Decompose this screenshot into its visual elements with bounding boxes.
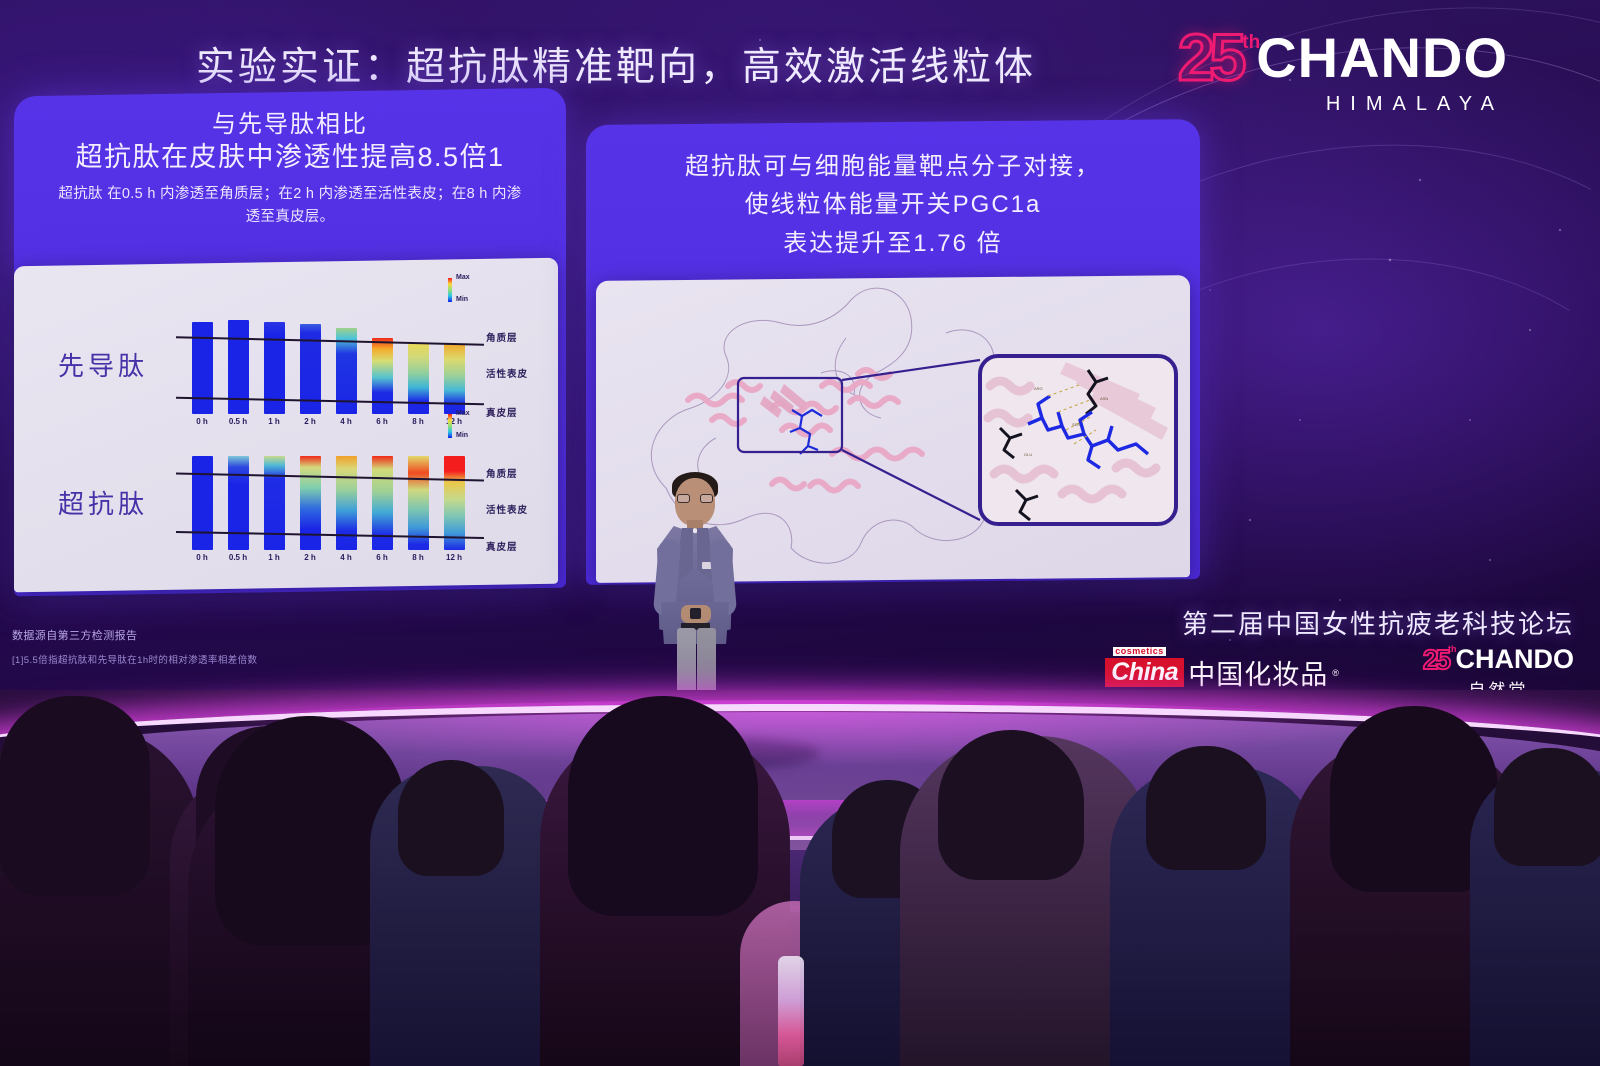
speaker-glasses: [677, 494, 713, 503]
heatmap-bar: [192, 456, 213, 550]
audience-hair: [0, 696, 150, 896]
x-tick: 12 h: [446, 553, 462, 562]
heatmap-bar: [228, 456, 249, 550]
x-tick: 0 h: [196, 417, 208, 426]
presentation-photo: 实验实证：超抗肽精准靶向，高效激活线粒体 25 th CHANDO HIMALA…: [0, 0, 1600, 1066]
legend-max-label: Max: [456, 410, 470, 417]
right-heading-line1: 超抗肽可与细胞能量靶点分子对接，: [616, 148, 1170, 186]
x-tick: 8 h: [412, 553, 424, 562]
layer-label-viable-epidermis: 活性表皮: [486, 502, 528, 516]
logo-china-cn-text: 中国化妆品: [1188, 653, 1328, 692]
x-tick: 4 h: [340, 553, 352, 562]
series-label-lead-peptide: 先导肽: [58, 346, 148, 383]
series-label-super-peptide: 超抗肽: [58, 484, 148, 521]
x-tick: 0 h: [196, 553, 208, 562]
layer-label-stratum-corneum: 角质层: [486, 330, 518, 344]
x-tick: 6 h: [376, 553, 388, 562]
chando-logo: 25 th CHANDO HIMALAYA: [1178, 28, 1508, 116]
logo-brand-sub: HIMALAYA: [1326, 93, 1504, 116]
svg-text:SER: SER: [1072, 422, 1080, 427]
right-heading-line3: 表达提升至1.76 倍: [616, 225, 1170, 263]
footnote-source: 数据源自第三方检测报告: [12, 627, 137, 643]
svg-text:ARG: ARG: [1034, 386, 1043, 391]
heatmap-row-super-peptide: Max Min 角质层 活性表皮 真皮层 0 h 0.5 h 1 h: [186, 440, 476, 550]
registered-mark-icon: ®: [1332, 668, 1339, 678]
colorbar-gradient: [448, 414, 452, 438]
audience-head: [398, 760, 504, 876]
left-heading-line1: 与先导肽相比: [14, 110, 566, 140]
layer-divider-line: [176, 336, 484, 345]
legend-min-label: Min: [456, 432, 468, 439]
x-tick: 1 h: [268, 417, 280, 426]
heatmap-row-lead-peptide: Max Min 角质层 活性表皮 真皮层 0 h 0.5 h 1 h: [186, 304, 476, 414]
colorbar-gradient: [448, 278, 452, 302]
footer-logo-number: 25: [1423, 646, 1448, 674]
svg-text:GLU: GLU: [1024, 452, 1032, 457]
audience-head: [1146, 746, 1266, 870]
x-tick: 2 h: [304, 553, 316, 562]
penetration-heatmap-card: 先导肽 超抗肽 Max Min 角质层 活: [14, 258, 558, 593]
left-heading-line2: 超抗肽在皮肤中渗透性提高8.5倍1: [14, 140, 566, 175]
audience-hair: [938, 730, 1084, 880]
layer-divider-line: [176, 473, 484, 482]
layer-label-dermis: 真皮层: [486, 539, 518, 553]
callout-leader-line: [842, 450, 980, 520]
layer-divider-line: [176, 531, 484, 539]
right-heading-line2: 使线粒体能量开关PGC1a: [616, 186, 1170, 224]
logo-brand-name: CHANDO: [1256, 30, 1508, 86]
x-tick: 4 h: [340, 417, 352, 426]
x-tick: 1 h: [268, 553, 280, 562]
forum-title: 第二届中国女性抗疲老科技论坛: [1182, 604, 1574, 641]
heatmap-bar: [228, 320, 249, 414]
x-tick: 2 h: [304, 417, 316, 426]
left-panel-heading: 与先导肽相比 超抗肽在皮肤中渗透性提高8.5倍1: [14, 92, 566, 175]
legend-max-label: Max: [456, 274, 470, 281]
heatmap-bar: [264, 456, 285, 550]
left-panel-subtext: 超抗肽 在0.5 h 内渗透至角质层；在2 h 内渗透至活性表皮；在8 h 内渗…: [14, 175, 566, 228]
x-tick: 6 h: [376, 417, 388, 426]
layer-label-dermis: 真皮层: [486, 405, 518, 419]
speaker-presenter: [645, 470, 745, 705]
heatmap-bar: [300, 456, 321, 550]
footer-logo-word: CHANDO: [1456, 644, 1575, 675]
x-tick: 0.5 h: [229, 553, 247, 562]
slide-title: 实验实证：超抗肽精准靶向，高效激活线粒体: [196, 36, 1056, 92]
layer-divider-line: [176, 397, 484, 405]
audience-head: [1494, 748, 1600, 866]
presenter-clicker-icon: [690, 608, 701, 619]
footnote-note1: [1]5.5倍指超抗肽和先导肽在1h时的相对渗透率相差倍数: [12, 652, 257, 666]
logo-china-text: ChinacosmeticsREVIEW: [1105, 658, 1184, 687]
layer-label-stratum-corneum: 角质层: [486, 466, 518, 480]
layer-label-viable-epidermis: 活性表皮: [486, 366, 528, 380]
logo-cosmetics-text: cosmetics: [1113, 647, 1166, 656]
x-tick: 0.5 h: [229, 417, 247, 426]
svg-text:ASN: ASN: [1100, 396, 1108, 401]
water-bottle: [778, 956, 804, 1066]
audience-hair: [568, 696, 758, 916]
x-tick: 8 h: [412, 417, 424, 426]
right-panel-heading: 超抗肽可与细胞能量靶点分子对接， 使线粒体能量开关PGC1a 表达提升至1.76…: [586, 122, 1200, 263]
china-cosmetics-review-logo: ChinacosmeticsREVIEW 中国化妆品 ®: [1105, 653, 1339, 692]
logo-anniversary-number: 25: [1178, 28, 1241, 87]
legend-min-label: Min: [456, 296, 468, 303]
